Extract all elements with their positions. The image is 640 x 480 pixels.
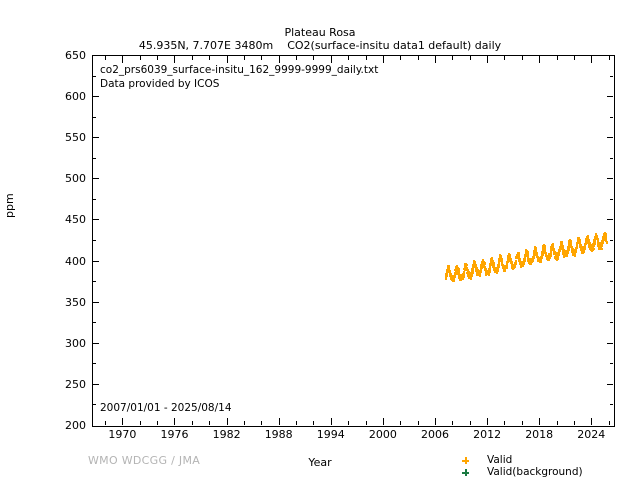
y-tick-major <box>607 261 613 262</box>
x-tick-minor <box>574 56 575 60</box>
legend-label: Valid(background) <box>487 466 583 478</box>
x-tick-minor <box>470 421 471 425</box>
x-tick-minor <box>418 421 419 425</box>
x-tick-minor <box>574 421 575 425</box>
x-tick-minor <box>140 56 141 60</box>
y-tick-label: 550 <box>46 132 86 143</box>
y-tick-label: 200 <box>46 420 86 431</box>
x-tick-minor <box>366 421 367 425</box>
y-axis-tick-labels: 200250300350400450500550600650 <box>42 55 86 425</box>
x-tick-minor <box>296 421 297 425</box>
legend-item[interactable]: Valid <box>462 454 638 466</box>
x-tick-minor <box>400 56 401 60</box>
x-tick-major <box>227 418 228 425</box>
x-tick-major <box>174 56 175 63</box>
y-tick-minor <box>93 117 96 118</box>
y-tick-major <box>607 302 613 303</box>
y-tick-major <box>607 219 613 220</box>
y-tick-minor <box>610 158 613 159</box>
y-tick-label: 450 <box>46 214 86 225</box>
x-tick-minor <box>157 56 158 60</box>
x-tick-minor <box>522 56 523 60</box>
y-tick-major <box>93 343 99 344</box>
x-tick-minor <box>140 421 141 425</box>
y-tick-minor <box>93 158 96 159</box>
y-tick-major <box>607 96 613 97</box>
x-tick-minor <box>157 421 158 425</box>
x-tick-label: 2000 <box>353 429 413 441</box>
x-tick-major <box>539 418 540 425</box>
x-tick-minor <box>261 421 262 425</box>
x-tick-minor <box>609 56 610 60</box>
x-tick-major <box>487 56 488 63</box>
x-tick-major <box>487 418 488 425</box>
plus-icon <box>462 457 469 464</box>
x-tick-major <box>591 418 592 425</box>
x-tick-label: 2012 <box>457 429 517 441</box>
x-tick-major <box>279 56 280 63</box>
x-tick-label: 1982 <box>197 429 257 441</box>
x-tick-minor <box>192 421 193 425</box>
x-tick-label: 1970 <box>92 429 152 441</box>
x-tick-minor <box>313 56 314 60</box>
x-tick-label: 1976 <box>144 429 204 441</box>
x-tick-minor <box>105 421 106 425</box>
y-tick-minor <box>610 76 613 77</box>
x-tick-minor <box>192 56 193 60</box>
y-tick-label: 400 <box>46 256 86 267</box>
y-tick-major <box>607 343 613 344</box>
x-tick-major <box>435 56 436 63</box>
x-tick-minor <box>400 421 401 425</box>
y-tick-minor <box>610 281 613 282</box>
x-tick-minor <box>418 56 419 60</box>
x-tick-major <box>331 418 332 425</box>
legend-label: Valid <box>487 454 512 466</box>
y-tick-major <box>93 178 99 179</box>
chart-legend: ValidValid(background) <box>462 454 638 478</box>
y-tick-minor <box>610 117 613 118</box>
x-tick-label: 2018 <box>509 429 569 441</box>
y-tick-label: 300 <box>46 338 86 349</box>
y-tick-minor <box>93 322 96 323</box>
x-tick-minor <box>470 56 471 60</box>
y-tick-minor <box>610 322 613 323</box>
x-tick-minor <box>209 56 210 60</box>
x-tick-minor <box>452 56 453 60</box>
y-tick-label: 500 <box>46 173 86 184</box>
x-tick-major <box>122 418 123 425</box>
x-tick-minor <box>313 421 314 425</box>
x-tick-minor <box>105 56 106 60</box>
x-tick-minor <box>261 56 262 60</box>
x-tick-label: 1994 <box>301 429 361 441</box>
x-tick-major <box>435 418 436 425</box>
y-tick-major <box>607 137 613 138</box>
y-tick-label: 650 <box>46 50 86 61</box>
chart-canvas: Plateau Rosa 45.935N, 7.707E 3480mCO2(su… <box>0 0 640 480</box>
x-tick-minor <box>522 421 523 425</box>
x-tick-major <box>227 56 228 63</box>
data-series-valid <box>93 56 614 426</box>
x-tick-minor <box>557 56 558 60</box>
x-tick-minor <box>504 421 505 425</box>
x-tick-major <box>174 418 175 425</box>
x-tick-minor <box>348 421 349 425</box>
legend-item[interactable]: Valid(background) <box>462 466 638 478</box>
y-tick-major <box>93 219 99 220</box>
x-tick-minor <box>296 56 297 60</box>
y-tick-major <box>93 384 99 385</box>
y-tick-label: 600 <box>46 91 86 102</box>
x-tick-label: 1988 <box>249 429 309 441</box>
x-tick-major <box>591 56 592 63</box>
x-tick-major <box>122 56 123 63</box>
page-title: Plateau Rosa <box>0 26 640 39</box>
station-coordinates: 45.935N, 7.707E 3480m <box>139 39 273 52</box>
x-tick-minor <box>348 56 349 60</box>
y-tick-minor <box>93 240 96 241</box>
x-tick-label: 2006 <box>405 429 465 441</box>
y-tick-minor <box>93 363 96 364</box>
x-tick-minor <box>504 56 505 60</box>
y-tick-major <box>93 137 99 138</box>
y-tick-major <box>93 96 99 97</box>
y-tick-minor <box>610 240 613 241</box>
parameter-label: CO2(surface-insitu data1 default) daily <box>287 39 501 52</box>
plot-inner: co2_prs6039_surface-insitu_162_9999-9999… <box>93 56 614 426</box>
y-tick-minor <box>93 281 96 282</box>
y-tick-label: 250 <box>46 379 86 390</box>
x-axis-tick-labels: 1970197619821988199420002006201220182024 <box>92 429 613 445</box>
x-tick-minor <box>209 421 210 425</box>
y-tick-minor <box>610 363 613 364</box>
y-tick-major <box>607 384 613 385</box>
y-tick-major <box>93 261 99 262</box>
x-tick-minor <box>557 421 558 425</box>
y-tick-major <box>607 178 613 179</box>
y-axis-title: ppm <box>4 193 16 218</box>
x-tick-major <box>331 56 332 63</box>
y-tick-label: 350 <box>46 297 86 308</box>
x-tick-major <box>279 418 280 425</box>
x-tick-minor <box>452 421 453 425</box>
plus-icon <box>462 469 469 476</box>
x-tick-minor <box>366 56 367 60</box>
x-tick-minor <box>244 56 245 60</box>
y-tick-minor <box>93 76 96 77</box>
watermark-label: WMO WDCGG / JMA <box>88 455 200 467</box>
chart-subtitle: 45.935N, 7.707E 3480mCO2(surface-insitu … <box>0 39 640 52</box>
y-tick-major <box>93 302 99 303</box>
x-tick-major <box>383 418 384 425</box>
x-tick-label: 2024 <box>561 429 621 441</box>
x-tick-major <box>383 56 384 63</box>
y-tick-minor <box>93 404 96 405</box>
y-tick-minor <box>93 199 96 200</box>
y-tick-minor <box>610 199 613 200</box>
x-tick-minor <box>609 421 610 425</box>
y-tick-minor <box>610 404 613 405</box>
x-tick-minor <box>244 421 245 425</box>
x-tick-major <box>539 56 540 63</box>
plot-area: co2_prs6039_surface-insitu_162_9999-9999… <box>92 55 615 427</box>
